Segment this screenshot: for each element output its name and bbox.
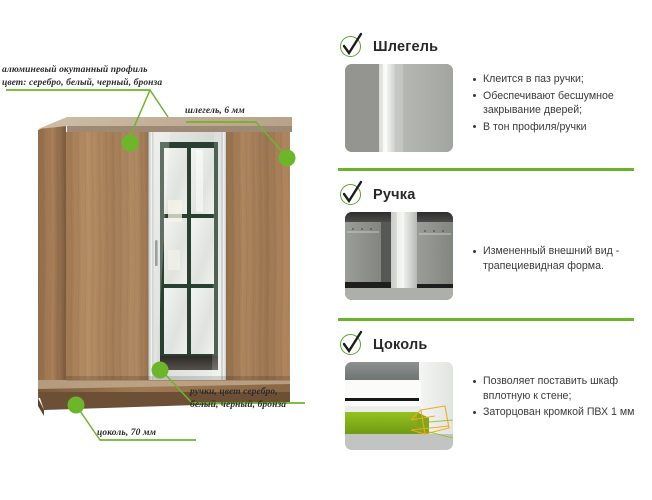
callout-profile-line2: цвет: серебро, белый, черный, бронза xyxy=(2,77,162,90)
thumbnail-plinth-green xyxy=(345,362,453,450)
callout-handles-line1: ручки, цвет серебро, xyxy=(190,386,286,399)
callout-profile: алюминевый окутанный профиль цвет: сереб… xyxy=(2,64,162,89)
feature-section-plinth: Цоколь xyxy=(330,318,652,478)
section-title: Ручка xyxy=(373,187,415,203)
section-title: Цоколь xyxy=(373,337,428,353)
section-divider xyxy=(338,318,634,321)
feature-section-shlegel: Шлегель xyxy=(330,20,652,168)
list-item: В тон профиля/ручки xyxy=(483,120,652,135)
check-circle-icon xyxy=(340,36,361,57)
feature-section-handle: Ручка xyxy=(330,168,652,318)
callout-shlegel: шлегель, 6 мм xyxy=(185,105,245,118)
feature-panel: Шлегель xyxy=(330,0,652,500)
list-item: Клеится в паз ручки; xyxy=(483,72,652,87)
callout-handles: ручки, цвет серебро, белый, черный, брон… xyxy=(190,386,286,411)
callout-shlegel-line1: шлегель, 6 мм xyxy=(185,105,245,118)
bullet-list-shlegel: Клеится в паз ручки; Обеспечивают бесшум… xyxy=(470,72,652,136)
callout-plinth: цоколь, 70 мм xyxy=(97,427,156,440)
list-item: Позволяет поставить шкаф вплотную к стен… xyxy=(483,374,652,403)
section-divider xyxy=(338,168,634,171)
bullet-list-handle: Измененный внешний вид - трапециевидная … xyxy=(470,244,652,275)
list-item: Обеспечивают бесшумное закрывание дверей… xyxy=(483,89,652,118)
marker-profile xyxy=(122,135,139,152)
marker-shlegel xyxy=(279,150,296,167)
callout-handles-line2: белый, черный, бронза xyxy=(190,399,286,412)
section-header-plinth: Цоколь xyxy=(340,334,428,355)
section-header-handle: Ручка xyxy=(340,184,415,205)
wardrobe-diagram: алюминевый окутанный профиль цвет: сереб… xyxy=(0,0,330,500)
marker-plinth xyxy=(68,397,85,414)
section-title: Шлегель xyxy=(373,39,438,55)
list-item: Заторцован кромкой ПВХ 1 мм xyxy=(483,405,652,420)
callout-plinth-line1: цоколь, 70 мм xyxy=(97,427,156,440)
check-circle-icon xyxy=(340,184,361,205)
callout-profile-line1: алюминевый окутанный профиль xyxy=(2,64,162,77)
list-item: Измененный внешний вид - трапециевидная … xyxy=(483,244,652,273)
section-header-shlegel: Шлегель xyxy=(340,36,438,57)
marker-handles xyxy=(152,362,169,379)
bullet-list-plinth: Позволяет поставить шкаф вплотную к стен… xyxy=(470,374,652,422)
thumbnail-handle-profile xyxy=(345,212,453,300)
check-circle-icon xyxy=(340,334,361,355)
thumbnail-profile-brush-seal xyxy=(345,64,453,152)
